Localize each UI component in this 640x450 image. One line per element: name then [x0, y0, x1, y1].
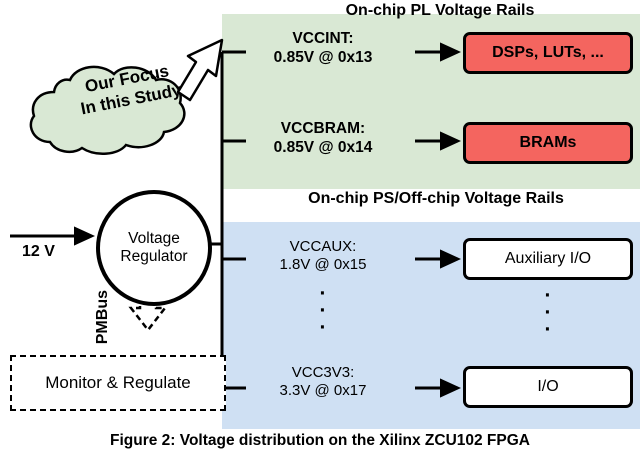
rail-label-vccint: VCCINT: 0.85V @ 0x13 — [238, 30, 408, 68]
diagram-canvas: On-chip PL Voltage Rails On-chip PS/Off-… — [0, 0, 640, 450]
target-list-ellipsis: ··· — [463, 288, 633, 338]
rail-label-vccbram: VCCBRAM: 0.85V @ 0x14 — [238, 120, 408, 158]
monitor-regulate-box: Monitor & Regulate — [10, 355, 226, 411]
rail-name-vccbram: VCCBRAM: — [238, 120, 408, 139]
rail-spec-vccint: 0.85V @ 0x13 — [238, 49, 408, 68]
target-box-brams: BRAMs — [463, 122, 633, 164]
rail-list-ellipsis: ··· — [238, 286, 408, 336]
pl-section-title: On-chip PL Voltage Rails — [240, 2, 640, 20]
target-box-dsps-luts: DSPs, LUTs, ... — [463, 32, 633, 74]
rail-label-vccaux: VCCAUX: 1.8V @ 0x15 — [238, 238, 408, 275]
voltage-regulator-node: Voltage Regulator — [96, 190, 212, 306]
target-box-auxiliary-io: Auxiliary I/O — [463, 238, 633, 280]
target-box-io: I/O — [463, 366, 633, 408]
rail-name-vcc3v3: VCC3V3: — [238, 364, 408, 382]
rail-spec-vcc3v3: 3.3V @ 0x17 — [238, 382, 408, 400]
focus-cloud: Our Focus In this Study — [26, 42, 226, 150]
regulator-line2: Regulator — [120, 248, 187, 266]
rail-name-vccaux: VCCAUX: — [238, 238, 408, 256]
pmbus-label: PMBus — [94, 290, 112, 344]
ps-section-title: On-chip PS/Off-chip Voltage Rails — [232, 190, 640, 208]
rail-name-vccint: VCCINT: — [238, 30, 408, 49]
rail-spec-vccbram: 0.85V @ 0x14 — [238, 139, 408, 158]
focus-cloud-text: Our Focus In this Study — [45, 53, 212, 126]
figure-caption: Figure 2: Voltage distribution on the Xi… — [0, 432, 640, 450]
rail-spec-vccaux: 1.8V @ 0x15 — [238, 256, 408, 274]
input-voltage-label: 12 V — [22, 243, 55, 261]
rail-label-vcc3v3: VCC3V3: 3.3V @ 0x17 — [238, 364, 408, 401]
regulator-line1: Voltage — [128, 230, 180, 248]
